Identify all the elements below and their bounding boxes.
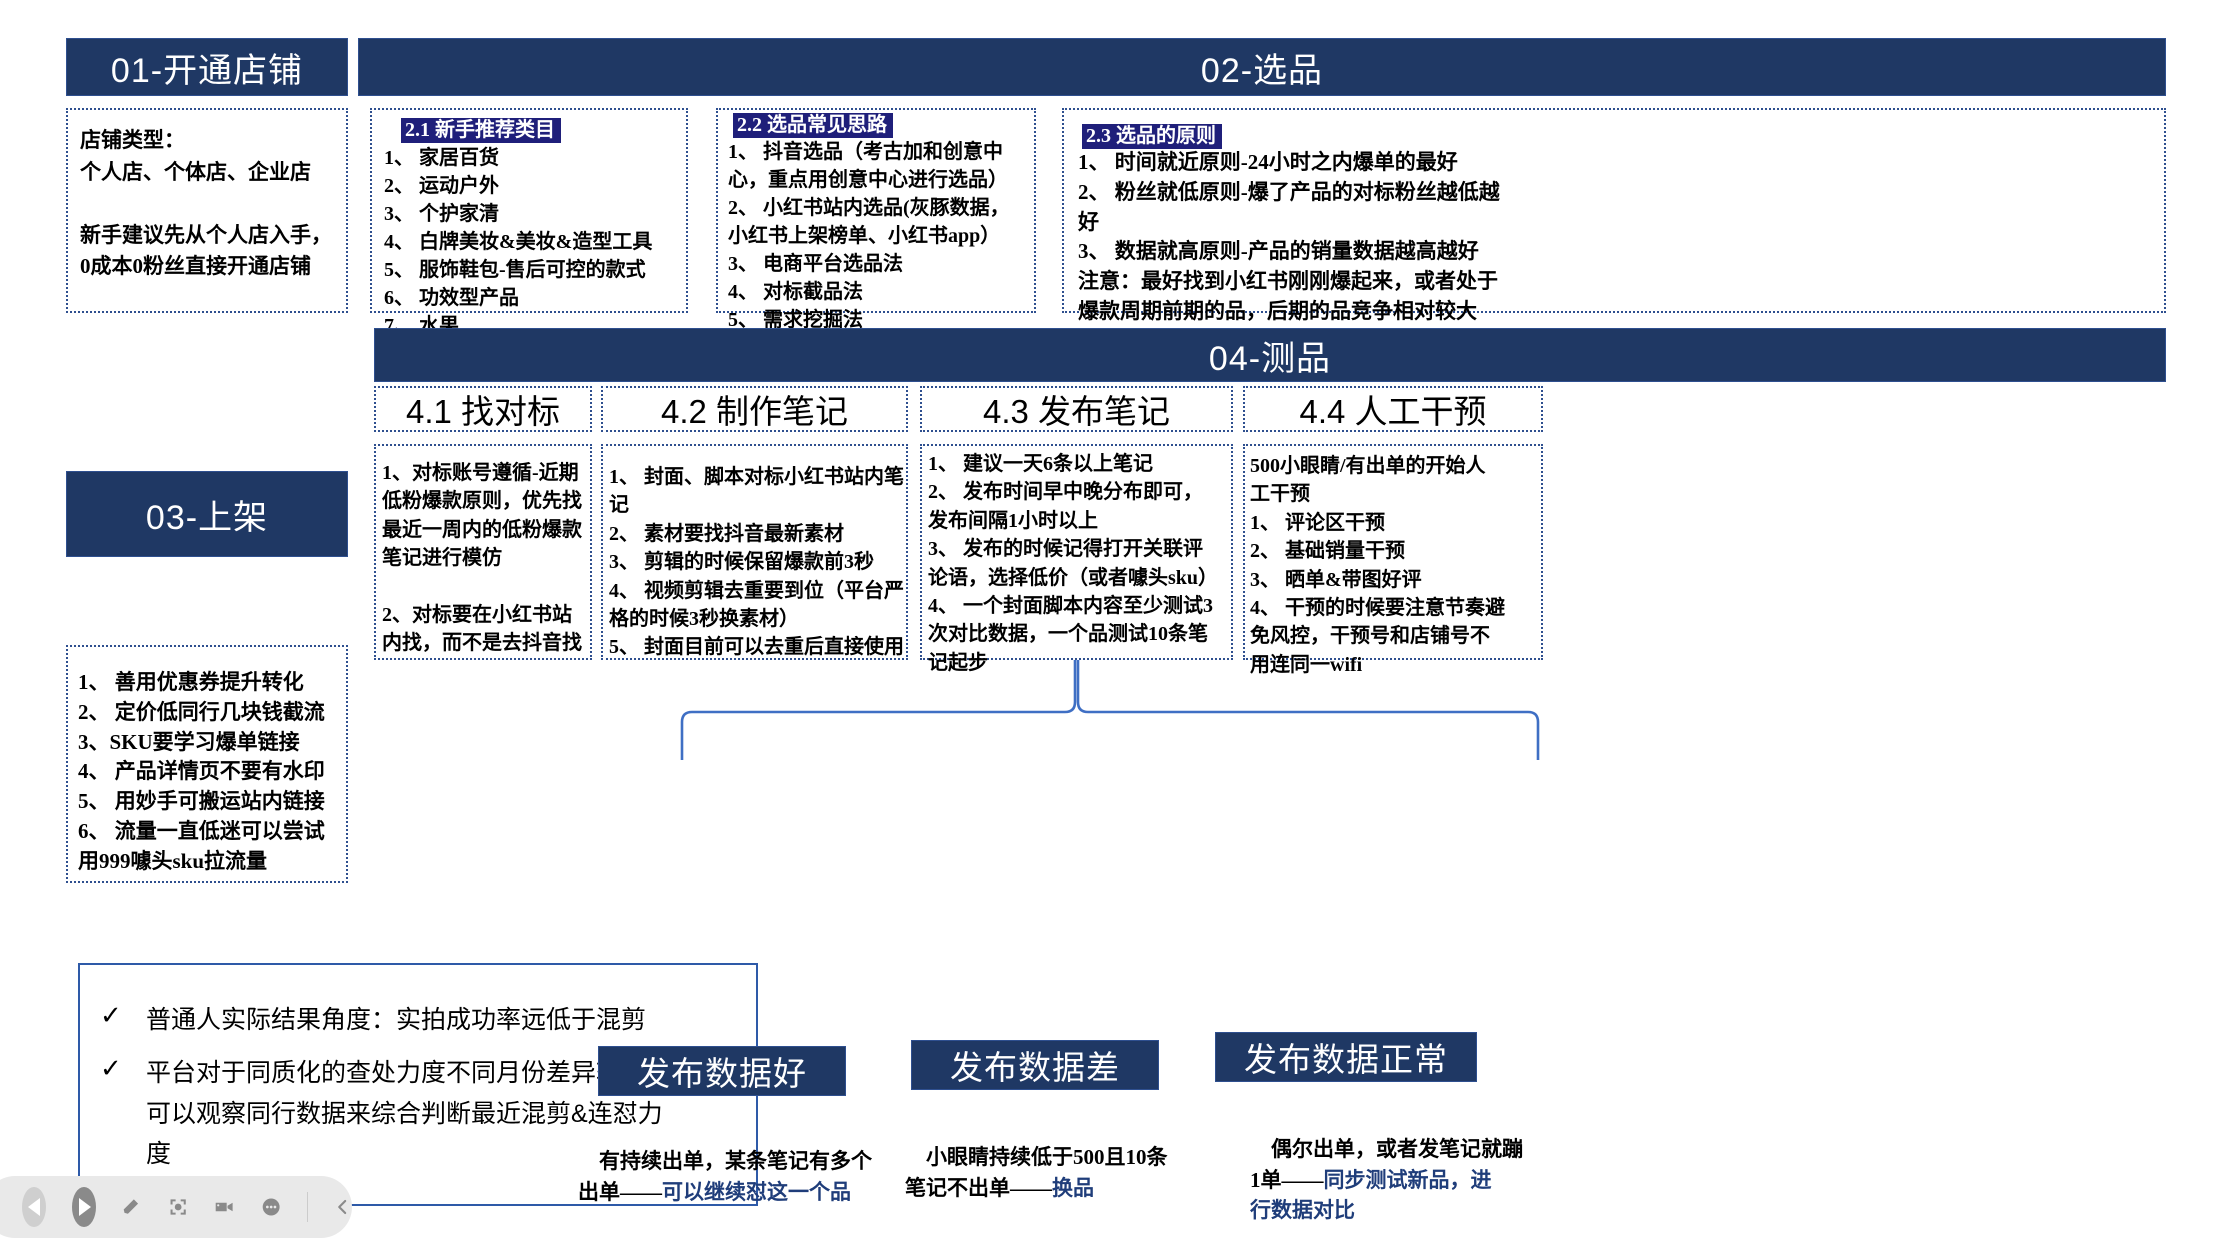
section-title-01-label: 01-开通店铺 (111, 43, 303, 92)
card-21-label: 2.1 新手推荐类目 (401, 118, 561, 143)
card-41-text: 1、对标账号遵循-近期 低粉爆款原则，优先找 最近一周内的低粉爆款 笔记进行模仿… (382, 459, 588, 658)
subtitle-43-label: 4.3 发布笔记 (983, 385, 1170, 433)
prev-button[interactable] (22, 1187, 46, 1227)
previous-icon (28, 1198, 40, 1216)
section-title-02: 02-选品 (358, 38, 2166, 96)
player-toolbar[interactable] (0, 1176, 352, 1238)
outcome-normal-note: 偶尔出单，或者发笔记就蹦 1单——同步测试新品，进 行数据对比 (1250, 1104, 1580, 1256)
outcome-good-note-highlight: 可以继续怼这一个品 (662, 1180, 851, 1204)
card-22-text: 1、 抖音选品（考古加和创意中 心，重点用创意中心进行选品） 2、 小红书站内选… (728, 138, 1036, 334)
check-icon: ✓ (100, 1053, 146, 1175)
outcome-normal-title-label: 发布数据正常 (1244, 1033, 1448, 1081)
outcome-good-title-label: 发布数据好 (637, 1047, 807, 1095)
card-22-label: 2.2 选品常见思路 (733, 113, 893, 138)
subtitle-43: 4.3 发布笔记 (920, 386, 1233, 432)
section-title-01: 01-开通店铺 (66, 38, 348, 96)
branch-connector (660, 660, 1560, 760)
note-item-1: ✓ 普通人实际结果角度：实拍成功率远低于混剪 (100, 1000, 740, 1041)
pen-icon[interactable] (122, 1190, 142, 1224)
outcome-bad-title: 发布数据差 (911, 1040, 1159, 1090)
outcome-normal-title: 发布数据正常 (1215, 1032, 1477, 1082)
outcome-good-note: 有持续出单，某条笔记有多个 出单——可以继续怼这一个品 (578, 1116, 908, 1238)
section-title-03-label: 03-上架 (146, 490, 268, 539)
outcome-bad-title-label: 发布数据差 (950, 1041, 1120, 1089)
subtitle-41: 4.1 找对标 (374, 386, 592, 432)
card-03-text: 1、 善用优惠券提升转化 2、 定价低同行几块钱截流 3、SKU要学习爆单链接 … (78, 668, 346, 877)
card-01-text: 店铺类型： 个人店、个体店、企业店 新手建议先从个人店入手， 0成本0粉丝直接开… (80, 125, 338, 283)
play-icon (79, 1198, 91, 1216)
check-icon: ✓ (100, 1000, 146, 1041)
subtitle-44-label: 4.4 人工干预 (1299, 385, 1486, 433)
subtitle-44: 4.4 人工干预 (1243, 386, 1543, 432)
video-camera-icon[interactable] (214, 1190, 234, 1224)
section-title-04: 04-测品 (374, 328, 2166, 382)
card-42-text: 1、 封面、脚本对标小红书站内笔 记 2、 素材要找抖音最新素材 3、 剪辑的时… (609, 463, 905, 662)
outcome-good-title: 发布数据好 (598, 1046, 846, 1096)
play-button[interactable] (72, 1187, 96, 1227)
subtitle-42-label: 4.2 制作笔记 (661, 385, 848, 433)
toolbar-divider (307, 1192, 308, 1222)
subtitle-41-label: 4.1 找对标 (406, 385, 560, 433)
slide-canvas: 01-开通店铺 02-选品 店铺类型： 个人店、个体店、企业店 新手建议先从个人… (0, 0, 2231, 1259)
card-44-text: 500小眼睛/有出单的开始人 工干预 1、 评论区干预 2、 基础销量干预 3、… (1250, 452, 1542, 679)
note-item-1-text: 普通人实际结果角度：实拍成功率远低于混剪 (146, 1000, 646, 1041)
subtitle-42: 4.2 制作笔记 (601, 386, 908, 432)
card-23-text: 1、 时间就近原则-24小时之内爆单的最好 2、 粉丝就低原则-爆了产品的对标粉… (1078, 148, 2158, 327)
card-21-text: 1、 家居百货 2、 运动户外 3、 个护家清 4、 白牌美妆&美妆&造型工具 … (384, 144, 684, 340)
outcome-bad-note-highlight: 换品 (1052, 1176, 1094, 1200)
more-options-icon[interactable] (261, 1190, 281, 1224)
outcome-bad-note-plain: 小眼睛持续低于500且10条 笔记不出单—— (905, 1145, 1168, 1199)
focus-icon[interactable] (168, 1190, 188, 1224)
section-title-02-label: 02-选品 (1201, 43, 1323, 92)
chevron-left-icon[interactable] (334, 1192, 352, 1222)
outcome-bad-note: 小眼睛持续低于500且10条 笔记不出单——换品 (905, 1112, 1235, 1234)
section-title-03: 03-上架 (66, 471, 348, 557)
card-23-label: 2.3 选品的原则 (1082, 124, 1222, 149)
section-title-04-label: 04-测品 (1209, 331, 1331, 380)
card-43-text: 1、 建议一天6条以上笔记 2、 发布时间早中晚分布即可， 发布间隔1小时以上 … (928, 450, 1232, 677)
